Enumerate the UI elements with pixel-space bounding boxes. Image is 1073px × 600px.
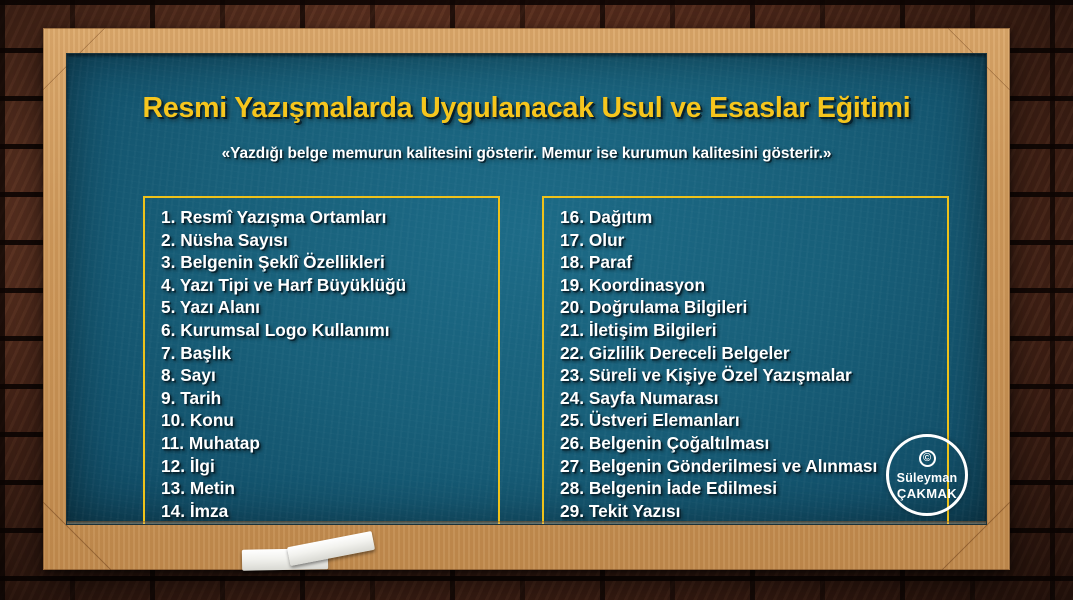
list-item: 2. Nüsha Sayısı: [161, 229, 492, 252]
list-item: 17. Olur: [560, 229, 941, 252]
watermark-last-name: ÇAKMAK: [897, 487, 957, 500]
list-item: 5. Yazı Alanı: [161, 296, 492, 319]
topic-columns: 1. Resmî Yazışma Ortamları2. Nüsha Sayıs…: [143, 196, 914, 524]
chalkboard: Resmi Yazışmalarda Uygulanacak Usul ve E…: [67, 54, 986, 524]
list-item: 23. Süreli ve Kişiye Özel Yazışmalar: [560, 364, 941, 387]
list-item: 4. Yazı Tipi ve Harf Büyüklüğü: [161, 274, 492, 297]
author-watermark-badge: © Süleyman ÇAKMAK: [886, 434, 968, 516]
watermark-first-name: Süleyman: [897, 472, 958, 485]
list-item: 19. Koordinasyon: [560, 274, 941, 297]
list-item: 25. Üstveri Elemanları: [560, 409, 941, 432]
subtitle-quote: «Yazdığı belge memurun kalitesini göster…: [67, 145, 986, 163]
list-item: 26. Belgenin Çoğaltılması: [560, 432, 941, 455]
left-topic-box: 1. Resmî Yazışma Ortamları2. Nüsha Sayıs…: [143, 196, 500, 524]
list-item: 8. Sayı: [161, 364, 492, 387]
list-item: 24. Sayfa Numarası: [560, 387, 941, 410]
copyright-icon: ©: [919, 450, 936, 467]
list-item: 10. Konu: [161, 409, 492, 432]
chalk-stick: [287, 531, 375, 566]
left-topic-list: 1. Resmî Yazışma Ortamları2. Nüsha Sayıs…: [161, 206, 492, 524]
page-title: Resmi Yazışmalarda Uygulanacak Usul ve E…: [67, 92, 986, 125]
frame-ledge-bevel: [67, 521, 986, 524]
list-item: 29. Tekit Yazısı: [560, 500, 941, 523]
list-item: 7. Başlık: [161, 342, 492, 365]
list-item: 27. Belgenin Gönderilmesi ve Alınması: [560, 455, 941, 478]
list-item: 20. Doğrulama Bilgileri: [560, 296, 941, 319]
right-topic-list: 16. Dağıtım17. Olur18. Paraf19. Koordina…: [560, 206, 941, 524]
list-item: 21. İletişim Bilgileri: [560, 319, 941, 342]
list-item: 28. Belgenin İade Edilmesi: [560, 477, 941, 500]
list-item: 18. Paraf: [560, 251, 941, 274]
list-item: 16. Dağıtım: [560, 206, 941, 229]
wooden-picture-frame: Resmi Yazışmalarda Uygulanacak Usul ve E…: [43, 28, 1010, 570]
list-item: 14. İmza: [161, 500, 492, 523]
list-item: 12. İlgi: [161, 455, 492, 478]
list-item: 11. Muhatap: [161, 432, 492, 455]
list-item: 9. Tarih: [161, 387, 492, 410]
list-item: 3. Belgenin Şeklî Özellikleri: [161, 251, 492, 274]
list-item: 22. Gizlilik Dereceli Belgeler: [560, 342, 941, 365]
list-item: 13. Metin: [161, 477, 492, 500]
list-item: 1. Resmî Yazışma Ortamları: [161, 206, 492, 229]
list-item: 6. Kurumsal Logo Kullanımı: [161, 319, 492, 342]
